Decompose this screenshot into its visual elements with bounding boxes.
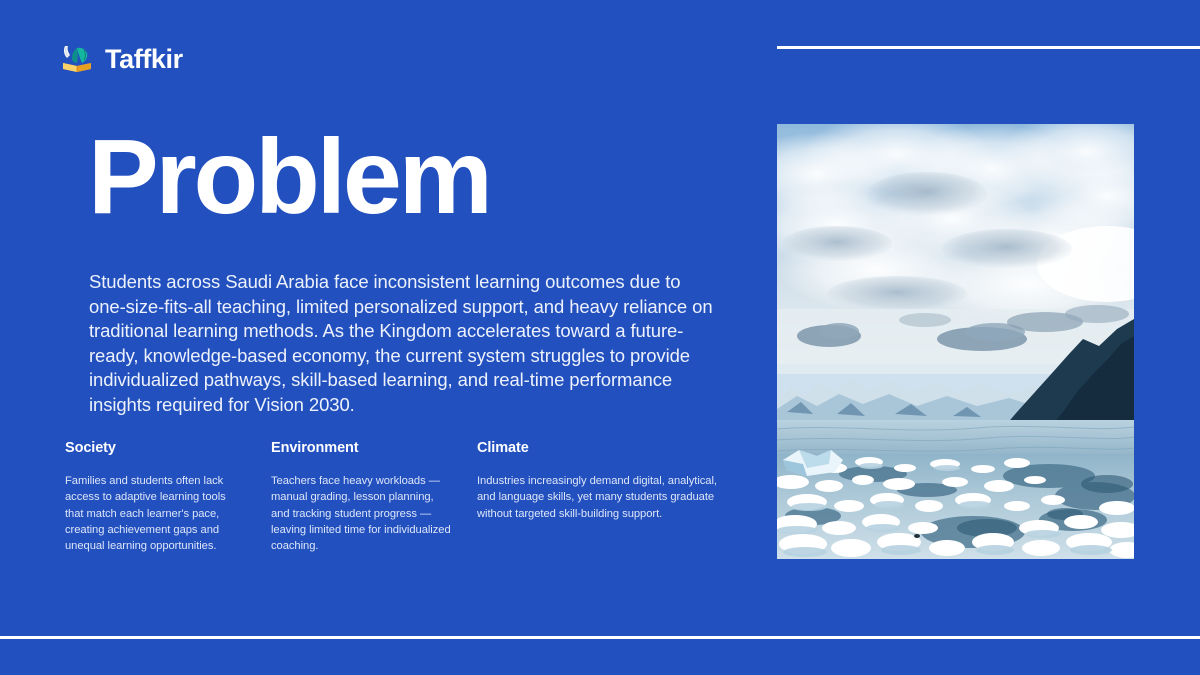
brand-name: Taffkir [105,46,183,73]
column-title: Environment [271,440,453,456]
column-body: Teachers face heavy workloads — manual g… [271,473,453,555]
lead-paragraph: Students across Saudi Arabia face incons… [89,270,714,418]
columns-group: Society Families and students often lack… [65,440,725,555]
brand-logo[interactable]: Taffkir [60,42,183,76]
column-body: Families and students often lack access … [65,473,247,555]
column-environment: Environment Teachers face heavy workload… [271,440,477,555]
column-climate: Climate Industries increasingly demand d… [477,440,725,555]
slide-root: Taffkir Problem Students across Saudi Ar… [0,0,1200,675]
bottom-divider-rule [0,636,1200,639]
book-quill-icon [60,42,94,76]
column-title: Climate [477,440,725,456]
column-society: Society Families and students often lack… [65,440,271,555]
column-title: Society [65,440,247,456]
page-title: Problem [88,124,490,230]
top-divider-rule [777,46,1200,49]
column-body: Industries increasingly demand digital, … [477,473,725,522]
glacier-lagoon-photo [777,124,1134,559]
